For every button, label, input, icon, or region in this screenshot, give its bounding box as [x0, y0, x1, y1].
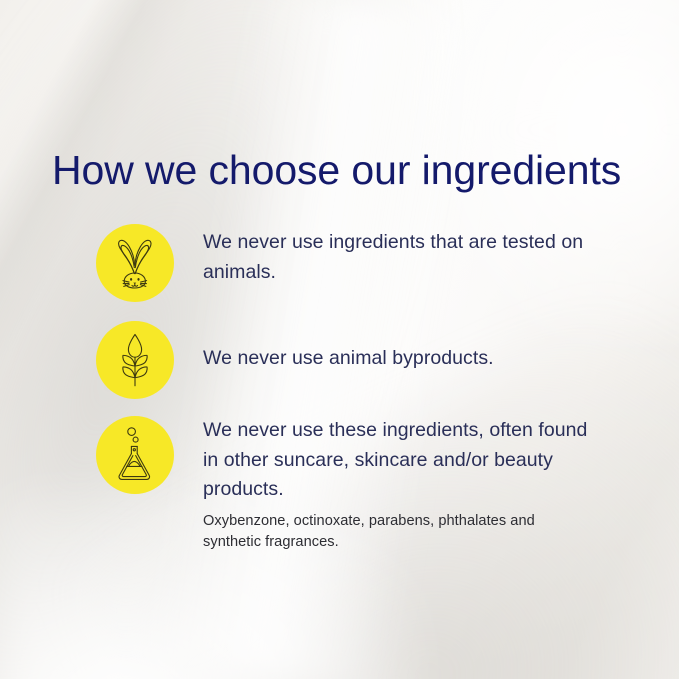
claim-text: We never use these ingredients, often fo…: [203, 416, 603, 505]
claim-text-block: We never use animal byproducts.: [174, 321, 494, 374]
list-item: We never use ingredients that are tested…: [96, 224, 636, 302]
claim-icon-badge: [96, 224, 174, 302]
claim-text: We never use animal byproducts.: [203, 344, 494, 374]
claim-text: We never use ingredients that are tested…: [203, 228, 603, 287]
claim-text-block: We never use these ingredients, often fo…: [174, 416, 603, 554]
claim-icon-badge: [96, 416, 174, 494]
page-title: How we choose our ingredients: [52, 148, 621, 193]
erlenmeyer-flask-bubbles-icon: [114, 427, 156, 483]
list-item: We never use these ingredients, often fo…: [96, 416, 636, 554]
claim-note: Oxybenzone, octinoxate, parabens, phthal…: [203, 511, 583, 554]
plant-leaf-sprout-icon: [115, 333, 155, 387]
ingredients-info-panel: How we choose our ingredients: [0, 0, 679, 679]
claims-list: We never use ingredients that are tested…: [96, 224, 636, 554]
bunny-heart-ears-icon: [113, 237, 157, 289]
list-item: We never use animal byproducts.: [96, 321, 636, 399]
claim-text-block: We never use ingredients that are tested…: [174, 224, 603, 287]
claim-icon-badge: [96, 321, 174, 399]
